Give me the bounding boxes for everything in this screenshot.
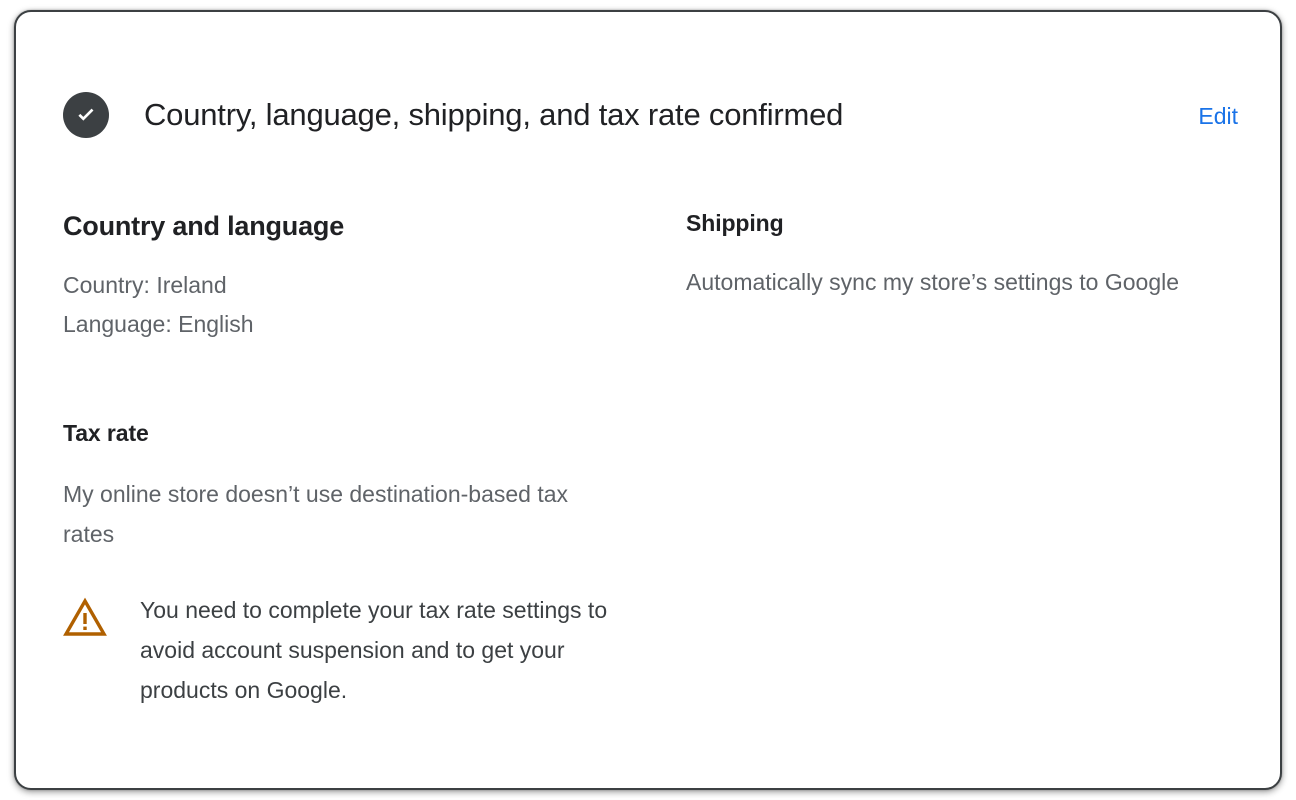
country-language-values: Country: Ireland Language: English (63, 266, 643, 344)
shipping-heading: Shipping (686, 208, 1231, 238)
tax-rate-section: Tax rate My online store doesn’t use des… (63, 418, 623, 554)
screen-canvas: Country, language, shipping, and tax rat… (0, 0, 1296, 800)
tax-rate-warning: You need to complete your tax rate setti… (63, 590, 663, 710)
check-circle-icon (63, 92, 109, 138)
shipping-section: Shipping Automatically sync my store’s s… (686, 208, 1231, 302)
country-language-section: Country and language Country: Ireland La… (63, 208, 643, 344)
tax-rate-heading: Tax rate (63, 418, 623, 448)
page-title: Country, language, shipping, and tax rat… (144, 94, 843, 136)
warning-triangle-icon (63, 597, 107, 637)
language-value: Language: English (63, 305, 643, 344)
country-language-heading: Country and language (63, 208, 643, 244)
warning-message: You need to complete your tax rate setti… (140, 590, 640, 710)
country-value: Country: Ireland (63, 266, 643, 305)
confirmation-card: Country, language, shipping, and tax rat… (14, 10, 1282, 790)
edit-button[interactable]: Edit (1198, 100, 1238, 132)
card-header: Country, language, shipping, and tax rat… (16, 12, 1280, 172)
shipping-value: Automatically sync my store’s settings t… (686, 262, 1231, 302)
tax-rate-value: My online store doesn’t use destination-… (63, 474, 608, 554)
